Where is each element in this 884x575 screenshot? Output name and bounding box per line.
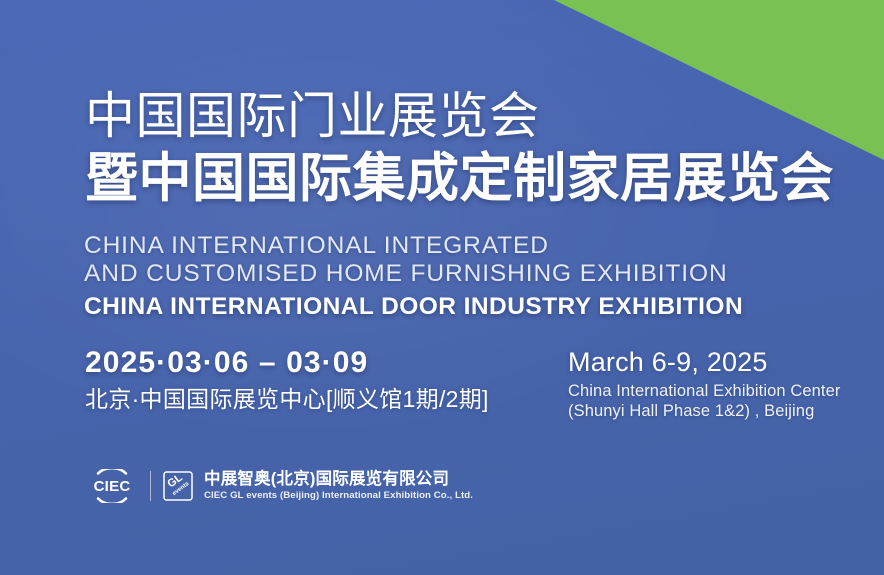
organiser-names: 中展智奥(北京)国际展览有限公司 CIEC GL events (Beijing… xyxy=(204,470,473,502)
english-door-industry-title: CHINA INTERNATIONAL DOOR INDUSTRY EXHIBI… xyxy=(84,292,743,321)
ciec-logo-icon: CIEC xyxy=(84,469,140,503)
english-subtitle-block: CHINA INTERNATIONAL INTEGRATED AND CUSTO… xyxy=(84,232,728,288)
chinese-venue: 北京·中国国际展览中心[顺义馆1期/2期] xyxy=(85,384,489,414)
english-subtitle-line-1: CHINA INTERNATIONAL INTEGRATED xyxy=(84,232,728,260)
logo-divider xyxy=(150,471,151,501)
exhibition-poster: 中国国际门业展览会 暨中国国际集成定制家居展览会 CHINA INTERNATI… xyxy=(0,0,884,575)
organiser-name-english: CIEC GL events (Beijing) International E… xyxy=(204,490,473,502)
chinese-info-column: 2025·03·06 – 03·09 北京·中国国际展览中心[顺义馆1期/2期] xyxy=(85,345,489,414)
poster-content: 中国国际门业展览会 暨中国国际集成定制家居展览会 CHINA INTERNATI… xyxy=(0,0,884,575)
gl-events-logo-icon: GL events xyxy=(162,470,194,502)
chinese-title-line-2: 暨中国国际集成定制家居展览会 xyxy=(85,150,834,208)
svg-text:CIEC: CIEC xyxy=(94,478,131,495)
organiser-logo-lockup: CIEC GL events 中展智奥(北京)国际展览有限公司 CIEC GL … xyxy=(84,466,473,506)
english-date: March 6-9, 2025 xyxy=(568,347,840,378)
english-venue-line-1: China International Exhibition Center xyxy=(568,381,840,401)
english-venue-line-2: (Shunyi Hall Phase 1&2) , Beijing xyxy=(568,401,840,421)
english-subtitle-line-2: AND CUSTOMISED HOME FURNISHING EXHIBITIO… xyxy=(84,260,728,288)
chinese-date: 2025·03·06 – 03·09 xyxy=(85,345,489,380)
date-and-venue-row: 2025·03·06 – 03·09 北京·中国国际展览中心[顺义馆1期/2期]… xyxy=(0,345,884,425)
english-info-column: March 6-9, 2025 China International Exhi… xyxy=(568,347,840,421)
chinese-title-line-1: 中国国际门业展览会 xyxy=(85,88,540,144)
organiser-name-chinese: 中展智奥(北京)国际展览有限公司 xyxy=(204,470,473,489)
